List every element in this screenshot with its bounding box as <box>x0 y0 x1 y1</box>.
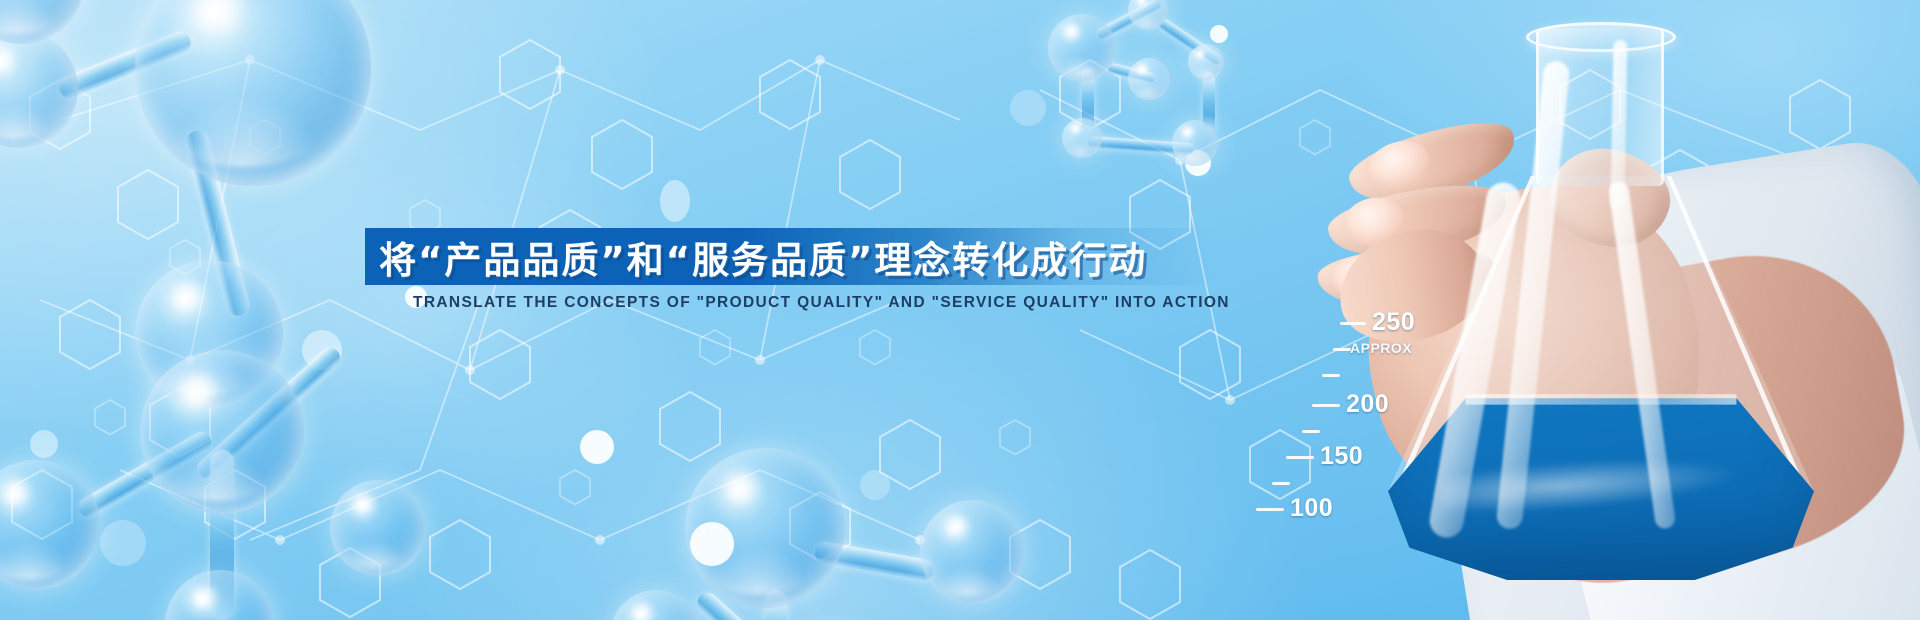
molecule-sphere <box>135 0 371 186</box>
molecule-sphere <box>165 570 275 620</box>
molecule-sphere <box>330 480 426 576</box>
flask-tick <box>1286 456 1314 459</box>
flask-graduation-200: 200 <box>1346 390 1389 419</box>
molecule-sphere <box>610 590 702 620</box>
molecule-sphere <box>0 0 84 44</box>
flask-graduation-150: 150 <box>1320 442 1363 471</box>
erlenmeyer-flask: 250 APPROX 200 150 100 <box>1220 0 1920 620</box>
flask-tick <box>1312 404 1340 407</box>
molecule-sphere <box>1128 58 1170 100</box>
molecule-sphere <box>1172 120 1218 166</box>
bokeh-dot <box>690 522 734 566</box>
headline-text: 将“产品品质”和“服务品质”理念转化成行动 <box>379 230 1147 284</box>
molecule-sphere <box>1048 14 1116 82</box>
headline-block: 将“产品品质”和“服务品质”理念转化成行动 <box>365 228 1215 285</box>
flask-tick <box>1333 348 1351 351</box>
banner-root: 250 APPROX 200 150 100 将“产品品质”和“服务品质”理念转… <box>0 0 1920 620</box>
molecule-sphere <box>1188 44 1224 80</box>
flask-tick <box>1272 482 1290 485</box>
flask-tick <box>1322 374 1340 377</box>
flask-graduation-100: 100 <box>1290 494 1333 523</box>
molecule-cluster-left-mid <box>0 330 430 620</box>
hand-holding-flask-photo: 250 APPROX 200 150 100 <box>1220 0 1920 620</box>
flask-tick <box>1340 322 1366 325</box>
molecule-sphere <box>0 460 100 590</box>
glass-highlight <box>1611 40 1628 210</box>
bokeh-dot <box>660 180 690 222</box>
molecule-sphere <box>1062 118 1102 158</box>
flask-tick <box>1302 430 1320 433</box>
molecule-cluster-lower-center <box>600 400 1080 620</box>
flask-graduation-250: 250 <box>1372 308 1415 337</box>
molecule-sphere <box>920 500 1024 604</box>
flask-graduation-approx: APPROX <box>1350 340 1412 356</box>
flask-tick <box>1256 508 1284 511</box>
molecule-cluster-top-edge <box>0 0 160 100</box>
subtitle-text: TRANSLATE THE CONCEPTS OF "PRODUCT QUALI… <box>413 294 1230 312</box>
molecule-sphere <box>140 350 304 514</box>
